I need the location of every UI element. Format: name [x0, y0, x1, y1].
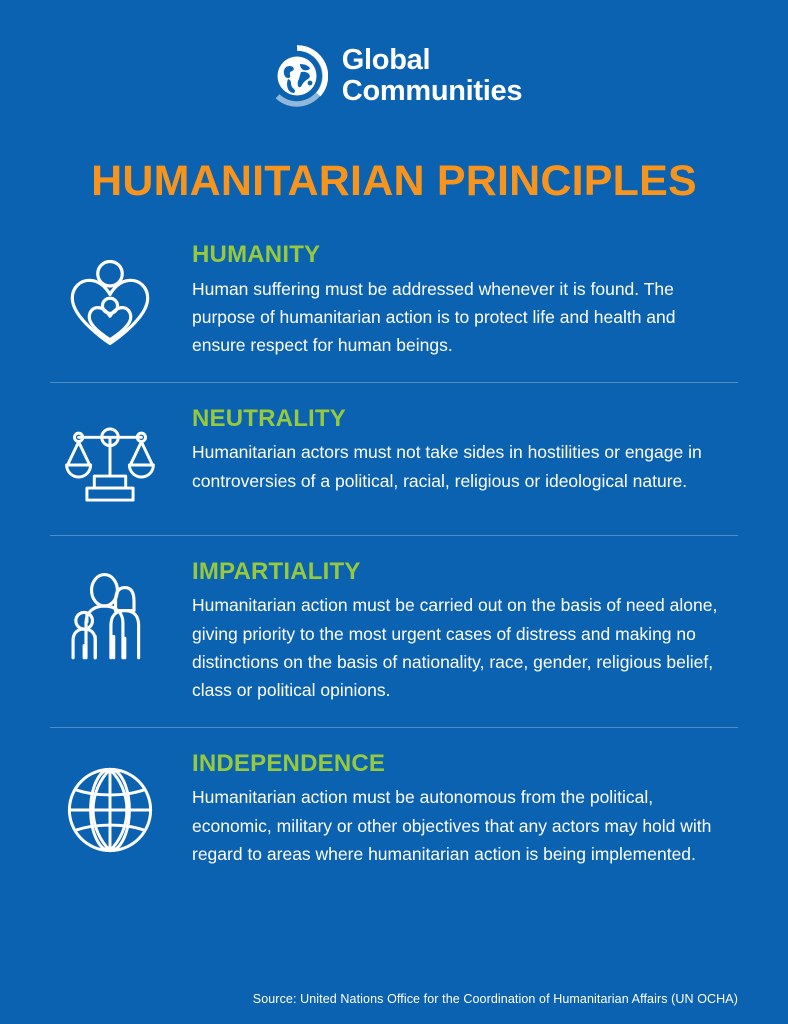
principle-title-neutrality: NEUTRALITY — [192, 405, 726, 433]
principles-list: HUMANITY Human suffering must be address… — [0, 241, 788, 868]
balance-scales-icon — [50, 405, 170, 513]
principle-item-humanity: HUMANITY Human suffering must be address… — [50, 241, 738, 382]
principle-text-neutrality: Humanitarian actors must not take sides … — [192, 438, 726, 495]
brand-name-line1: Global — [342, 45, 522, 76]
brand-logo: Global Communities — [0, 0, 788, 112]
brand-name-line2: Communities — [342, 76, 522, 107]
page-title: HUMANITARIAN PRINCIPLES — [0, 160, 788, 203]
principle-text-impartiality: Humanitarian action must be carried out … — [192, 591, 726, 704]
people-group-icon — [50, 558, 170, 666]
principle-item-impartiality: IMPARTIALITY Humanitarian action must be… — [50, 536, 738, 727]
globe-logo-icon — [266, 45, 328, 107]
brand-name: Global Communities — [342, 45, 522, 108]
principle-title-humanity: HUMANITY — [192, 241, 726, 269]
principle-body-impartiality: IMPARTIALITY Humanitarian action must be… — [170, 558, 738, 705]
globe-grid-icon — [50, 750, 170, 858]
principle-body-independence: INDEPENDENCE Humanitarian action must be… — [170, 750, 738, 869]
principle-item-independence: INDEPENDENCE Humanitarian action must be… — [50, 728, 738, 869]
principle-text-humanity: Human suffering must be addressed whenev… — [192, 275, 726, 360]
heart-family-icon — [50, 241, 170, 351]
principle-text-independence: Humanitarian action must be autonomous f… — [192, 783, 726, 868]
principle-title-independence: INDEPENDENCE — [192, 750, 726, 778]
principle-body-humanity: HUMANITY Human suffering must be address… — [170, 241, 738, 360]
principle-title-impartiality: IMPARTIALITY — [192, 558, 726, 586]
source-attribution: Source: United Nations Office for the Co… — [0, 992, 738, 1006]
principle-item-neutrality: NEUTRALITY Humanitarian actors must not … — [50, 383, 738, 535]
principle-body-neutrality: NEUTRALITY Humanitarian actors must not … — [170, 405, 738, 495]
